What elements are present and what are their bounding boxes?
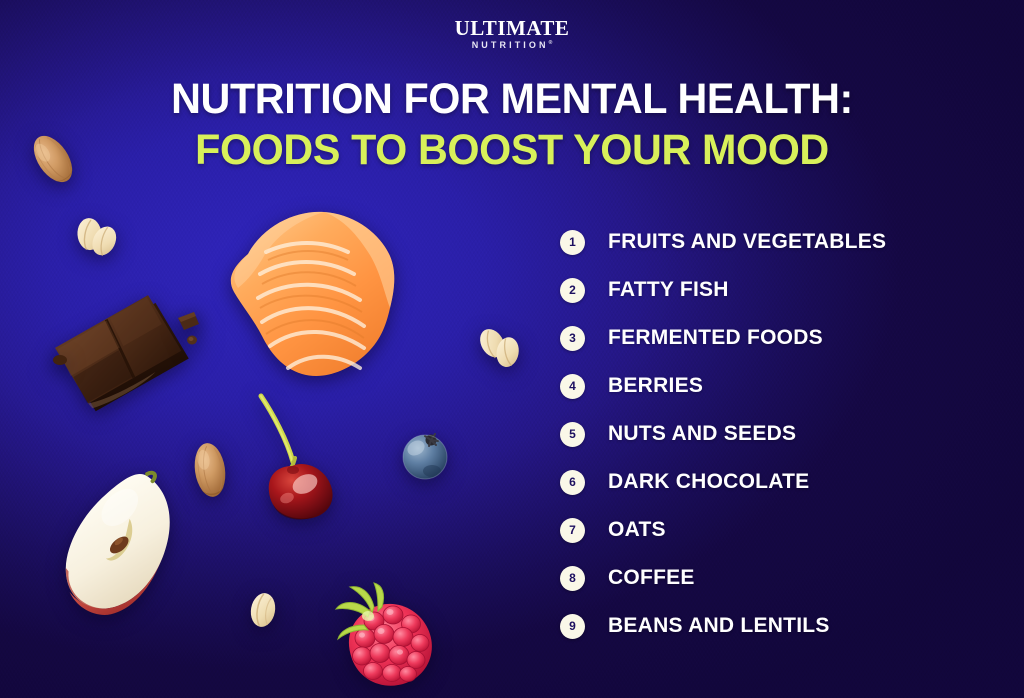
list-item: 4 BERRIES (560, 362, 980, 410)
list-item-label: DARK CHOCOLATE (608, 470, 809, 494)
infographic-poster: ULTIMATE NUTRITION® NUTRITION FOR MENTAL… (0, 0, 1024, 698)
cherry-image (243, 392, 353, 522)
list-item-label: BERRIES (608, 374, 703, 398)
oat-flake-image (243, 588, 283, 632)
list-item-number: 7 (560, 518, 585, 543)
list-item-label: FATTY FISH (608, 278, 729, 302)
almond-image (24, 128, 82, 190)
list-item-label: NUTS AND SEEDS (608, 422, 796, 446)
title-line-accent: FOODS TO BOOST YOUR MOOD (20, 129, 1003, 173)
raspberry-image (330, 583, 446, 693)
oat-flake-image (477, 322, 525, 374)
list-item: 2 FATTY FISH (560, 266, 980, 314)
brand-logo: ULTIMATE NUTRITION® (0, 18, 1024, 50)
list-item-label: COFFEE (608, 566, 695, 590)
list-item-number: 1 (560, 230, 585, 255)
list-item: 7 OATS (560, 506, 980, 554)
list-item-number: 3 (560, 326, 585, 351)
brand-name-main: ULTIMATE (0, 18, 1024, 39)
list-item-number: 6 (560, 470, 585, 495)
trademark-symbol: ® (549, 40, 553, 46)
apple-slice-image (55, 468, 205, 628)
salmon-fillet-image (212, 196, 412, 392)
list-item: 8 COFFEE (560, 554, 980, 602)
list-item-label: FRUITS AND VEGETABLES (608, 230, 886, 254)
dark-chocolate-image (56, 296, 221, 441)
food-list: 1 FRUITS AND VEGETABLES 2 FATTY FISH 3 F… (560, 218, 980, 650)
list-item-number: 9 (560, 614, 585, 639)
list-item-label: OATS (608, 518, 666, 542)
oat-flake-image (72, 215, 122, 259)
list-item-number: 2 (560, 278, 585, 303)
list-item-number: 8 (560, 566, 585, 591)
list-item: 6 DARK CHOCOLATE (560, 458, 980, 506)
title-line-primary: NUTRITION FOR MENTAL HEALTH: (20, 78, 1003, 122)
list-item: 5 NUTS AND SEEDS (560, 410, 980, 458)
list-item-number: 4 (560, 374, 585, 399)
blueberry-image (398, 428, 452, 482)
list-item-label: BEANS AND LENTILS (608, 614, 830, 638)
page-title: NUTRITION FOR MENTAL HEALTH: FOODS TO BO… (0, 78, 1024, 173)
list-item-number: 5 (560, 422, 585, 447)
list-item: 9 BEANS AND LENTILS (560, 602, 980, 650)
list-item: 1 FRUITS AND VEGETABLES (560, 218, 980, 266)
brand-name-sub: NUTRITION® (0, 41, 1024, 50)
list-item-label: FERMENTED FOODS (608, 326, 823, 350)
list-item: 3 FERMENTED FOODS (560, 314, 980, 362)
